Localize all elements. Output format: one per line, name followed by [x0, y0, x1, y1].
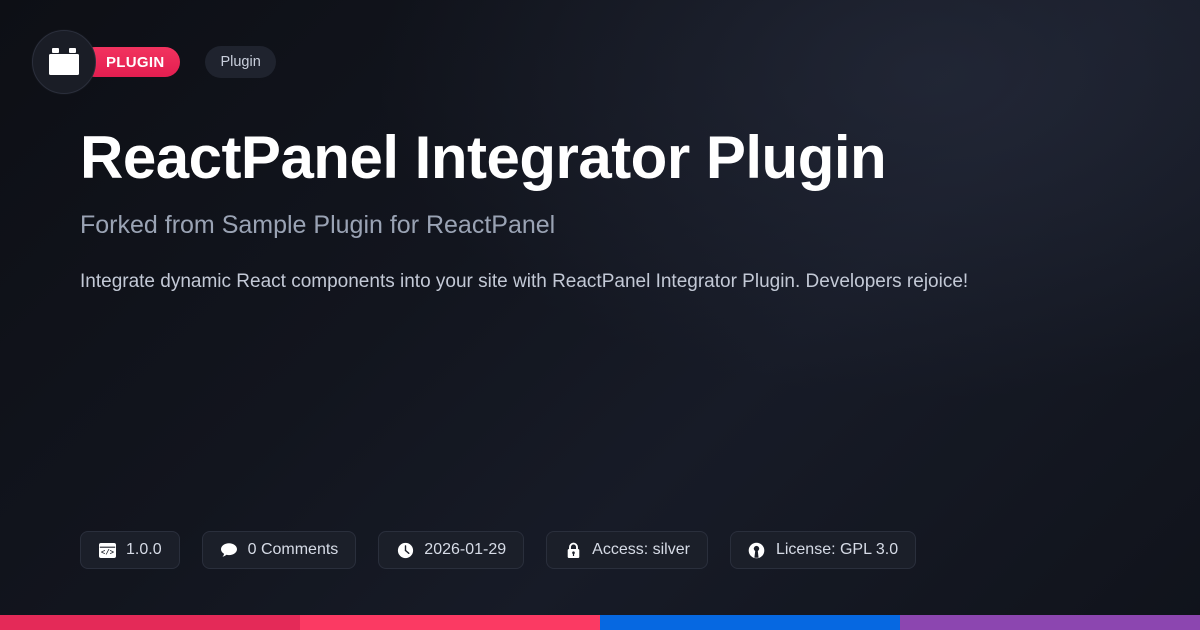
color-bar-segment-3	[600, 615, 900, 630]
accent-color-bar	[0, 615, 1200, 630]
meta-label: License: GPL 3.0	[776, 542, 898, 558]
metadata-row: </> 1.0.0 0 Comments 2026-01-29	[80, 531, 916, 569]
page-title: ReactPanel Integrator Plugin	[80, 122, 886, 194]
header-row: PLUGIN Plugin	[32, 30, 276, 94]
meta-pill-license: License: GPL 3.0	[730, 531, 916, 569]
meta-pill-date: 2026-01-29	[378, 531, 524, 569]
avatar	[32, 30, 96, 94]
meta-label: 1.0.0	[126, 542, 162, 558]
meta-pill-comments: 0 Comments	[202, 531, 357, 569]
plugin-category-tag[interactable]: Plugin	[205, 46, 275, 78]
color-bar-segment-2	[300, 615, 600, 630]
meta-pill-access: Access: silver	[546, 531, 708, 569]
svg-text:</>: </>	[101, 549, 114, 557]
comment-bubble-icon	[220, 541, 238, 559]
page-subtitle: Forked from Sample Plugin for ReactPanel	[80, 209, 555, 241]
meta-label: 2026-01-29	[424, 542, 506, 558]
meta-label: Access: silver	[592, 542, 690, 558]
clock-icon	[396, 541, 414, 559]
color-bar-segment-1	[0, 615, 300, 630]
code-window-icon: </>	[98, 541, 116, 559]
open-source-icon	[748, 541, 766, 559]
plug-icon	[47, 47, 81, 77]
color-bar-segment-4	[900, 615, 1200, 630]
plugin-hero-card: PLUGIN Plugin ReactPanel Integrator Plug…	[0, 0, 1200, 630]
meta-pill-version: </> 1.0.0	[80, 531, 180, 569]
page-description: Integrate dynamic React components into …	[80, 265, 980, 298]
lock-icon	[564, 541, 582, 559]
meta-label: 0 Comments	[248, 542, 339, 558]
